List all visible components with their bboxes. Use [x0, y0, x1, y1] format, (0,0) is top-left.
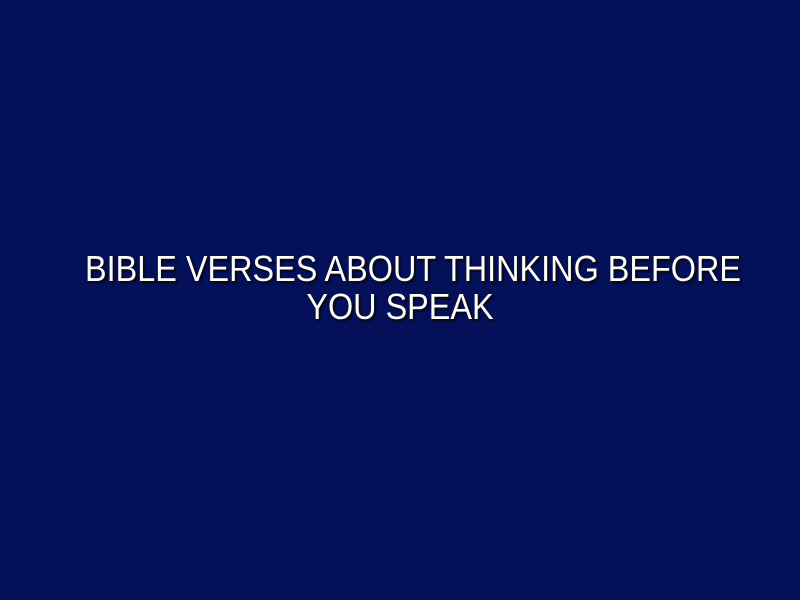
headline-line-1: BIBLE VERSES ABOUT THINKING BEFORE — [85, 250, 715, 288]
title-card-canvas: BIBLE VERSES ABOUT THINKING BEFORE YOU S… — [0, 0, 800, 600]
headline-block: BIBLE VERSES ABOUT THINKING BEFORE YOU S… — [50, 250, 750, 326]
headline-line-2: YOU SPEAK — [85, 288, 715, 326]
